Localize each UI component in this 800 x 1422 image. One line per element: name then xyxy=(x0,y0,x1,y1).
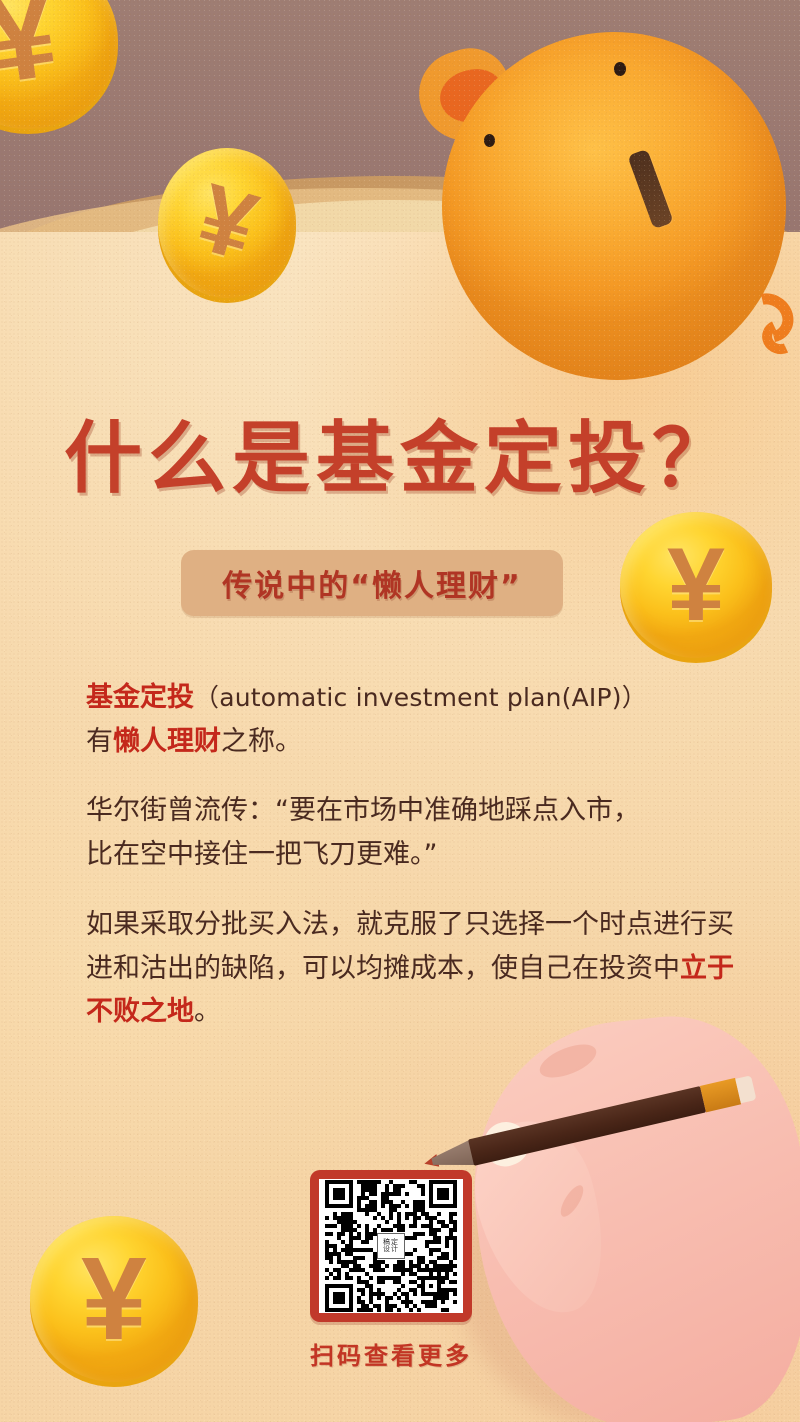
piggy-eye-right xyxy=(614,62,626,76)
paragraph-wallstreet-quote: 华尔街曾流传：“要在市场中准确地踩点入市，比在空中接住一把飞刀更难。” xyxy=(86,789,736,876)
batch-buy-suffix: 。 xyxy=(194,996,221,1027)
piggy-bank-illustration xyxy=(418,22,786,382)
definition-prefix: 有 xyxy=(86,726,113,757)
batch-buy-prefix: 如果采取分批买入法，就克服了只选择一个时点进行买进和沽出的缺陷，可以均摊成本，使… xyxy=(86,909,734,984)
body-copy: 基金定投（automatic investment plan(AIP)）有懒人理… xyxy=(86,676,736,1034)
term-lazy-finance: 懒人理财 xyxy=(113,726,221,757)
coin-mid-left: ¥ xyxy=(158,148,296,298)
coin-top-left: ¥ xyxy=(0,0,118,129)
qr-caption: 扫码查看更多 xyxy=(310,1336,472,1371)
piggy-eye-left xyxy=(484,134,495,147)
subtitle-badge-label: 传说中的“懒人理财” xyxy=(222,561,521,605)
quote-line-2: 比在空中接住一把飞刀更难。” xyxy=(86,839,438,870)
yen-icon: ¥ xyxy=(30,1216,198,1382)
term-aip-en: （automatic investment plan(AIP)） xyxy=(194,683,647,712)
qr-white-field[interactable]: 稿定 设计 xyxy=(319,1179,463,1313)
qr-logo-line-2: 设计 xyxy=(383,1246,399,1253)
term-aip-cn: 基金定投 xyxy=(86,682,194,713)
subtitle-badge: 传说中的“懒人理财” xyxy=(181,550,563,616)
qr-block[interactable]: 稿定 设计 扫码查看更多 xyxy=(310,1170,472,1371)
definition-suffix: 之称。 xyxy=(221,726,302,757)
piggy-body xyxy=(442,32,786,380)
paragraph-definition: 基金定投（automatic investment plan(AIP)）有懒人理… xyxy=(86,676,736,763)
coin-face: ¥ xyxy=(0,0,118,129)
coin-right: ¥ xyxy=(620,512,772,658)
poster-canvas: ¥ ¥ 什么是基金定投？ 传说中的“懒人理财” ¥ 基金定投 xyxy=(0,0,800,1422)
page-title: 什么是基金定投？ xyxy=(0,396,800,508)
yen-icon: ¥ xyxy=(620,512,772,658)
qr-frame[interactable]: 稿定 设计 xyxy=(310,1170,472,1322)
coin-face: ¥ xyxy=(158,148,296,298)
coin-bottom-left: ¥ xyxy=(30,1216,198,1382)
coin-face: ¥ xyxy=(30,1216,198,1382)
quote-line-1: 华尔街曾流传：“要在市场中准确地踩点入市， xyxy=(86,795,640,826)
coin-face: ¥ xyxy=(620,512,772,658)
qr-center-logo: 稿定 设计 xyxy=(377,1233,405,1259)
